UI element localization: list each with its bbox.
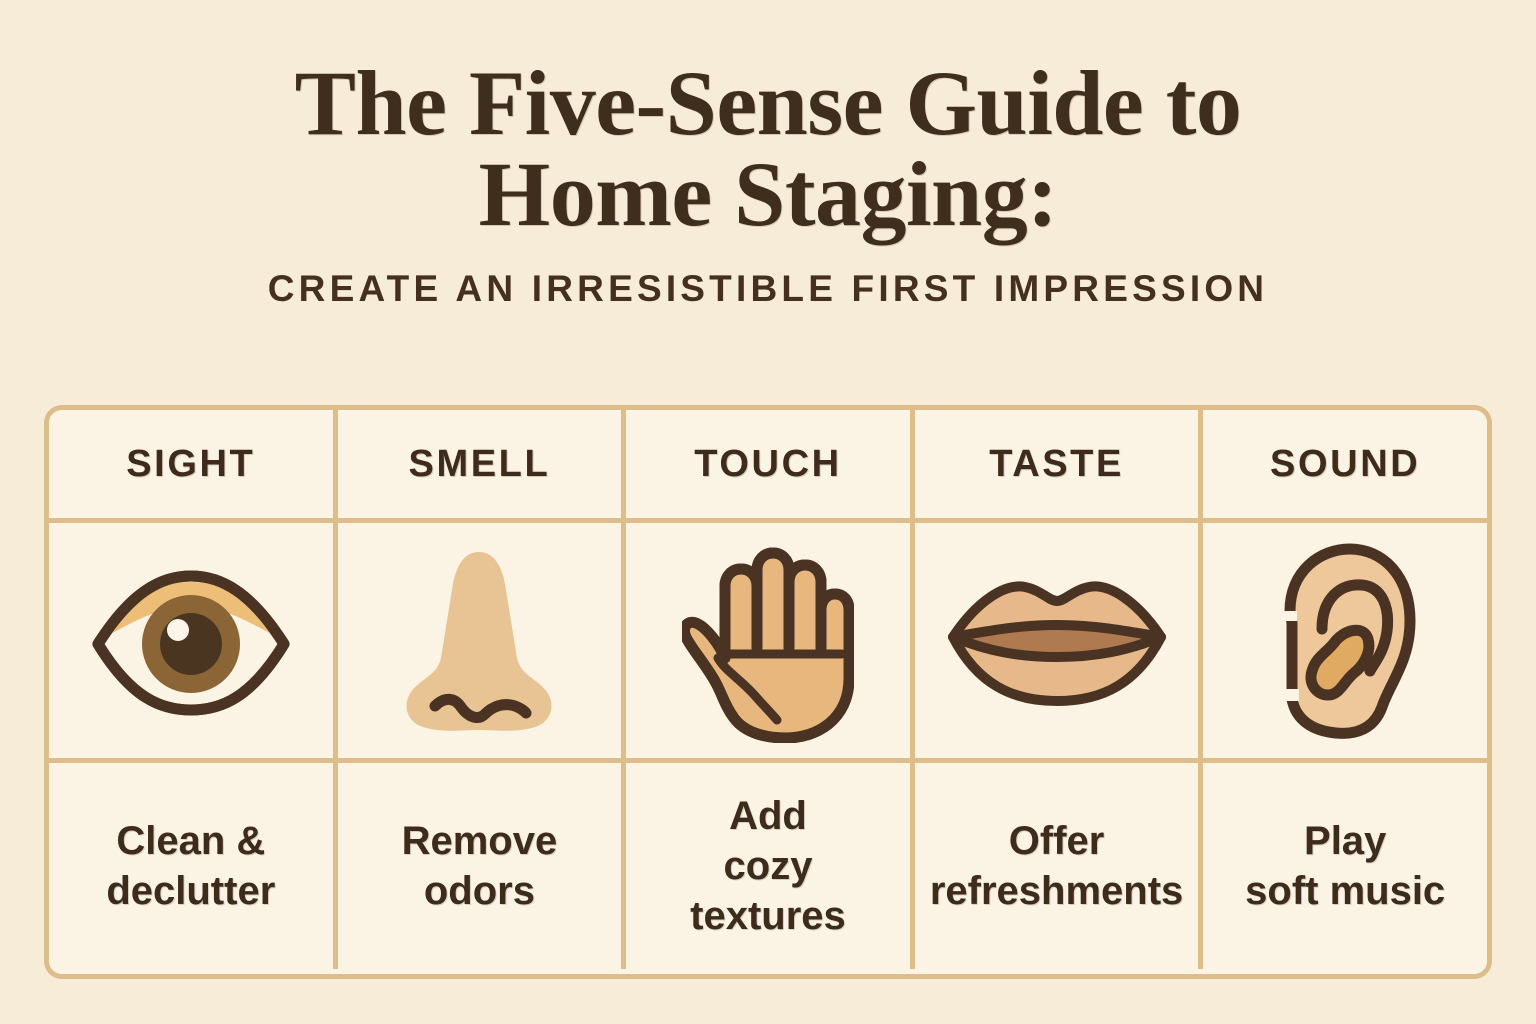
caption-line: cozy [690,841,846,891]
five-sense-table: SIGHT SMELL TOUCH TASTE SOUND [44,405,1492,979]
title-line-1: The Five-Sense Guide to [148,58,1388,149]
caption-cell-sound: Play soft music [1203,763,1487,969]
caption-line: Clean & [106,816,275,866]
caption-line: soft music [1245,866,1445,916]
header-cell-taste: TASTE [915,410,1204,518]
icon-cell-taste [915,523,1204,758]
caption-line: Remove [402,816,558,866]
header-label-sound: SOUND [1270,443,1420,486]
caption-line: odors [402,866,558,916]
caption-cell-smell: Remove odors [338,763,627,969]
icon-cell-sight [49,523,338,758]
page-title: The Five-Sense Guide to Home Staging: [148,58,1388,240]
hand-icon [626,523,910,758]
caption-line: Offer [930,816,1183,866]
caption-label-sound: Play soft music [1235,816,1455,916]
header-cell-smell: SMELL [338,410,627,518]
caption-cell-touch: Add cozy textures [626,763,915,969]
nose-icon [338,523,622,758]
icon-cell-smell [338,523,627,758]
header-cell-touch: TOUCH [626,410,915,518]
caption-line: textures [690,891,846,941]
header-label-smell: SMELL [409,443,551,486]
page-header: The Five-Sense Guide to Home Staging: CR… [0,0,1536,310]
table-icon-row [49,523,1487,763]
caption-label-sight: Clean & declutter [96,816,285,916]
header-cell-sight: SIGHT [49,410,338,518]
icon-cell-sound [1203,523,1487,758]
caption-line: refreshments [930,866,1183,916]
caption-line: declutter [106,866,275,916]
caption-cell-taste: Offer refreshments [915,763,1204,969]
header-label-sight: SIGHT [126,443,255,486]
header-label-touch: TOUCH [694,443,841,486]
caption-cell-sight: Clean & declutter [49,763,338,969]
caption-line: Add [690,791,846,841]
title-line-2: Home Staging: [148,149,1388,240]
table-header-row: SIGHT SMELL TOUCH TASTE SOUND [49,410,1487,523]
caption-label-taste: Offer refreshments [920,816,1193,916]
eye-icon [49,523,333,758]
lips-icon [915,523,1199,758]
header-label-taste: TASTE [989,443,1124,486]
caption-label-smell: Remove odors [392,816,568,916]
icon-cell-touch [626,523,915,758]
caption-line: Play [1245,816,1445,866]
caption-label-touch: Add cozy textures [680,791,856,941]
table-caption-row: Clean & declutter Remove odors Add cozy … [49,763,1487,969]
header-cell-sound: SOUND [1203,410,1487,518]
page-subtitle: CREATE AN IRRESISTIBLE FIRST IMPRESSION [0,268,1536,310]
ear-icon [1203,523,1487,758]
